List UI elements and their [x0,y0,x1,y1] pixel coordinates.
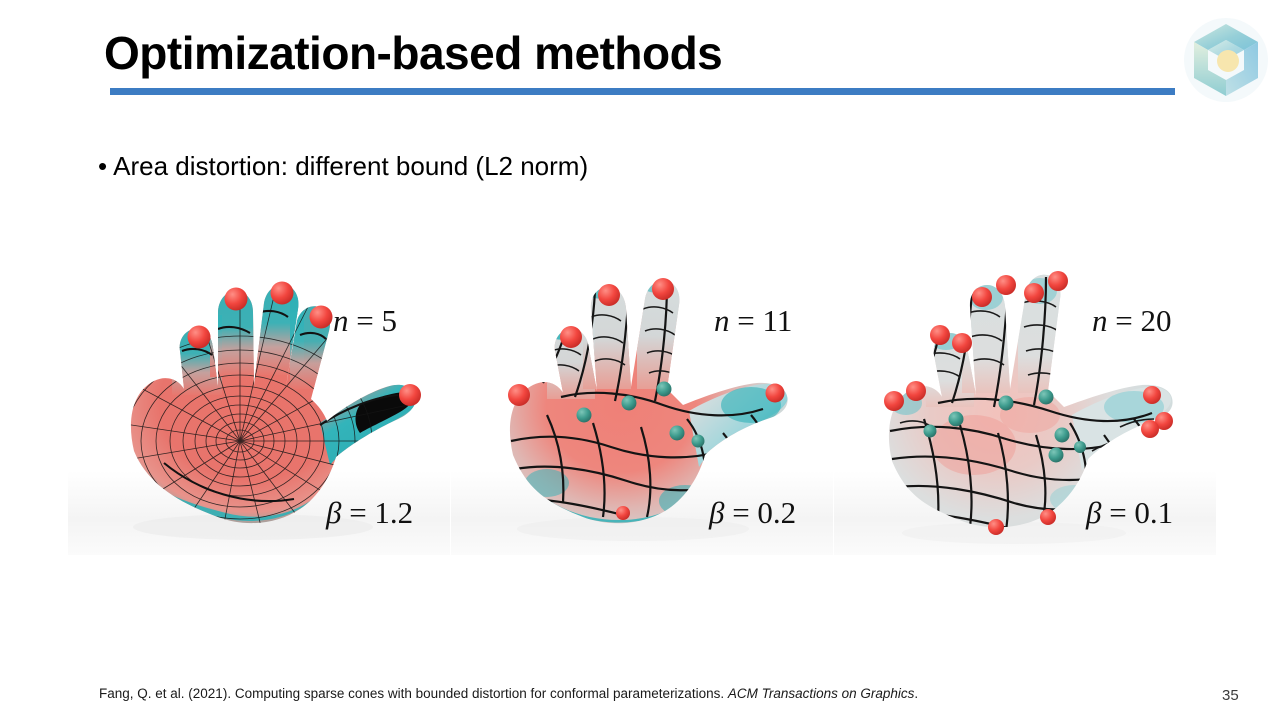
cone-sphere [598,284,620,306]
slide-root: Optimization-based methods [0,0,1280,718]
cone-sphere [310,306,333,329]
bullet-line: •Area distortion: different bound (L2 no… [98,151,588,182]
cone-sphere [188,326,211,349]
page-number: 35 [1222,687,1239,704]
red-blob-palm [932,415,1016,475]
citation-paper-title: Computing sparse cones with bounded dist… [235,686,728,701]
cone-sphere-neg [1039,390,1054,405]
label-cone-count-n11: n = 11 [714,303,792,339]
cone-sphere [225,288,248,311]
cone-sphere [766,384,785,403]
beta-symbol: β [709,495,724,530]
beta-value: = 0.2 [732,495,796,530]
cone-sphere-neg [1049,448,1064,463]
citation-trailing: . [914,686,918,701]
cone-sphere [952,333,972,353]
logo-center-dot [1217,50,1239,72]
bullet-text: Area distortion: different bound (L2 nor… [113,151,588,181]
cone-sphere [560,326,582,348]
cone-sphere-neg [657,382,672,397]
n-value: = 20 [1115,303,1171,338]
cone-sphere [930,325,950,345]
figure-panel-n5: n = 5 β = 1.2 [68,255,450,555]
hexagon-cube-logo [1182,16,1270,104]
cone-sphere [1024,283,1044,303]
cone-sphere-neg [670,426,685,441]
cone-sphere-neg [999,396,1014,411]
cone-sphere [1040,509,1056,525]
beta-value: = 1.2 [349,495,413,530]
cone-sphere-neg [1074,441,1086,453]
cone-sphere-neg [924,425,937,438]
figure-panel-n20: n = 20 β = 0.1 [834,255,1216,555]
citation-authors-year: Fang, Q. et al. (2021). [99,686,235,701]
page-title: Optimization-based methods [104,26,722,80]
cone-sphere [972,287,992,307]
n-symbol: n [714,303,730,338]
cone-sphere [1141,420,1159,438]
figure-strip: n = 5 β = 1.2 [68,255,1216,555]
cone-sphere [616,506,630,520]
figure-panel-n11: n = 11 β = 0.2 [451,255,833,555]
cone-sphere [884,391,904,411]
cone-sphere-neg [577,408,592,423]
beta-symbol: β [326,495,341,530]
label-beta-n5: β = 1.2 [326,495,413,531]
label-cone-count-n20: n = 20 [1092,303,1171,339]
beta-value: = 0.1 [1109,495,1173,530]
cone-sphere-neg [692,435,705,448]
n-symbol: n [1092,303,1108,338]
title-underline-rule [110,88,1175,95]
cone-sphere [988,519,1004,535]
cone-sphere [399,384,421,406]
cone-sphere-neg [1055,428,1070,443]
n-value: = 5 [356,303,397,338]
beta-symbol: β [1086,495,1101,530]
cone-sphere [996,275,1016,295]
label-cone-count-n5: n = 5 [333,303,397,339]
bullet-marker: • [98,151,107,181]
cone-sphere [271,282,294,305]
label-beta-n11: β = 0.2 [709,495,796,531]
cone-sphere [1048,271,1068,291]
cone-sphere-neg [949,412,964,427]
citation-journal: ACM Transactions on Graphics [728,686,915,701]
cone-sphere [906,381,926,401]
citation-footer: Fang, Q. et al. (2021). Computing sparse… [99,686,918,701]
n-value: = 11 [737,303,792,338]
cone-sphere [652,278,674,300]
label-beta-n20: β = 0.1 [1086,495,1173,531]
cone-sphere-neg [622,396,637,411]
cone-sphere [1143,386,1161,404]
cone-sphere [508,384,530,406]
n-symbol: n [333,303,349,338]
